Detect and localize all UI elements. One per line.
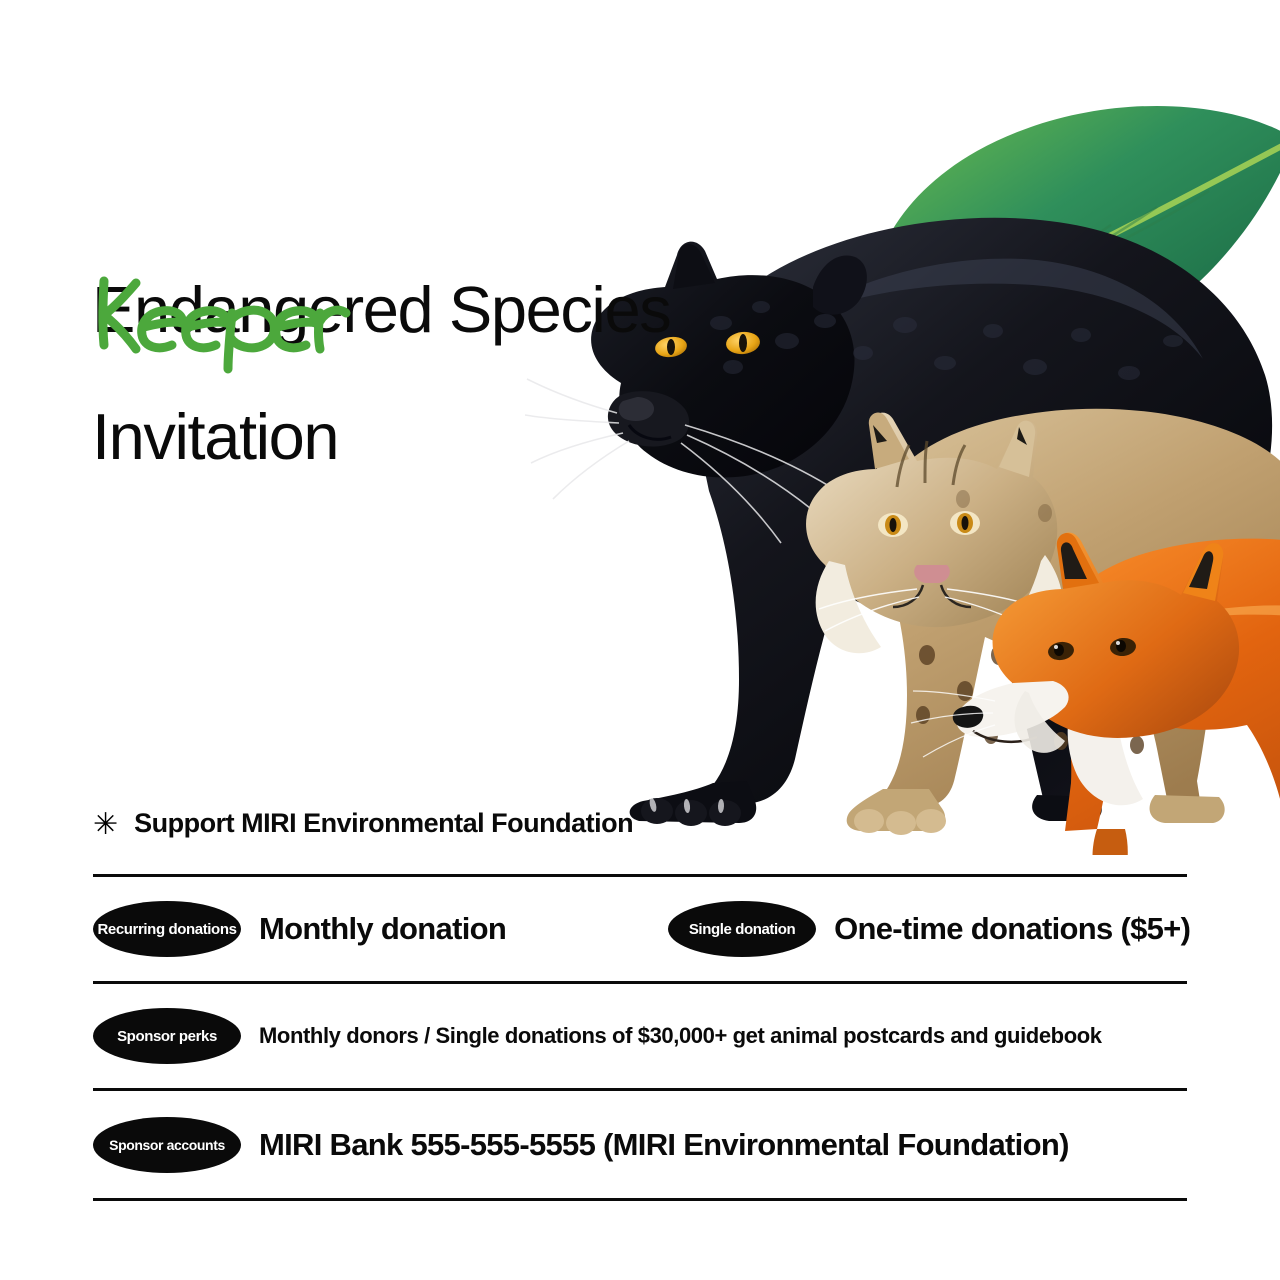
table-cell-single: Single donation One-time donations ($5+) [668,901,1190,957]
headline-line-1: Endangered Species [92,277,712,342]
leaf-graphic [870,106,1280,547]
table-row: Sponsor accounts MIRI Bank 555-555-5555 … [93,1091,1187,1198]
table-row: Recurring donations Monthly donation Sin… [93,877,1187,981]
poster-canvas: Endangered Species Invitation [0,0,1280,1280]
support-text: Support MIRI Environmental Foundation [134,808,633,839]
page-title: Endangered Species Invitation [92,277,712,469]
row-text-monthly-donation: Monthly donation [259,911,506,947]
lynx-graphic [806,409,1280,835]
divider-bottom [93,1198,1187,1201]
donation-info-table: Recurring donations Monthly donation Sin… [93,874,1187,1201]
table-cell-perks: Sponsor perks Monthly donors / Single do… [93,1008,1102,1064]
table-cell-recurring: Recurring donations Monthly donation [93,901,506,957]
badge-sponsor-accounts[interactable]: Sponsor accounts [93,1117,241,1173]
row-text-sponsor-accounts: MIRI Bank 555-555-5555 (MIRI Environment… [259,1127,1069,1163]
headline-line-2: Invitation [92,404,712,469]
badge-single-donation[interactable]: Single donation [668,901,816,957]
badge-sponsor-perks[interactable]: Sponsor perks [93,1008,241,1064]
badge-recurring-donations[interactable]: Recurring donations [93,901,241,957]
table-cell-accounts: Sponsor accounts MIRI Bank 555-555-5555 … [93,1117,1069,1173]
row-text-sponsor-perks: Monthly donors / Single donations of $30… [259,1023,1102,1049]
support-line: ✳ Support MIRI Environmental Foundation [93,808,633,839]
table-row: Sponsor perks Monthly donors / Single do… [93,984,1187,1088]
eight-point-star-icon: ✳ [93,810,118,840]
row-text-one-time-donations: One-time donations ($5+) [834,911,1190,947]
red-fox-graphic [911,532,1280,855]
